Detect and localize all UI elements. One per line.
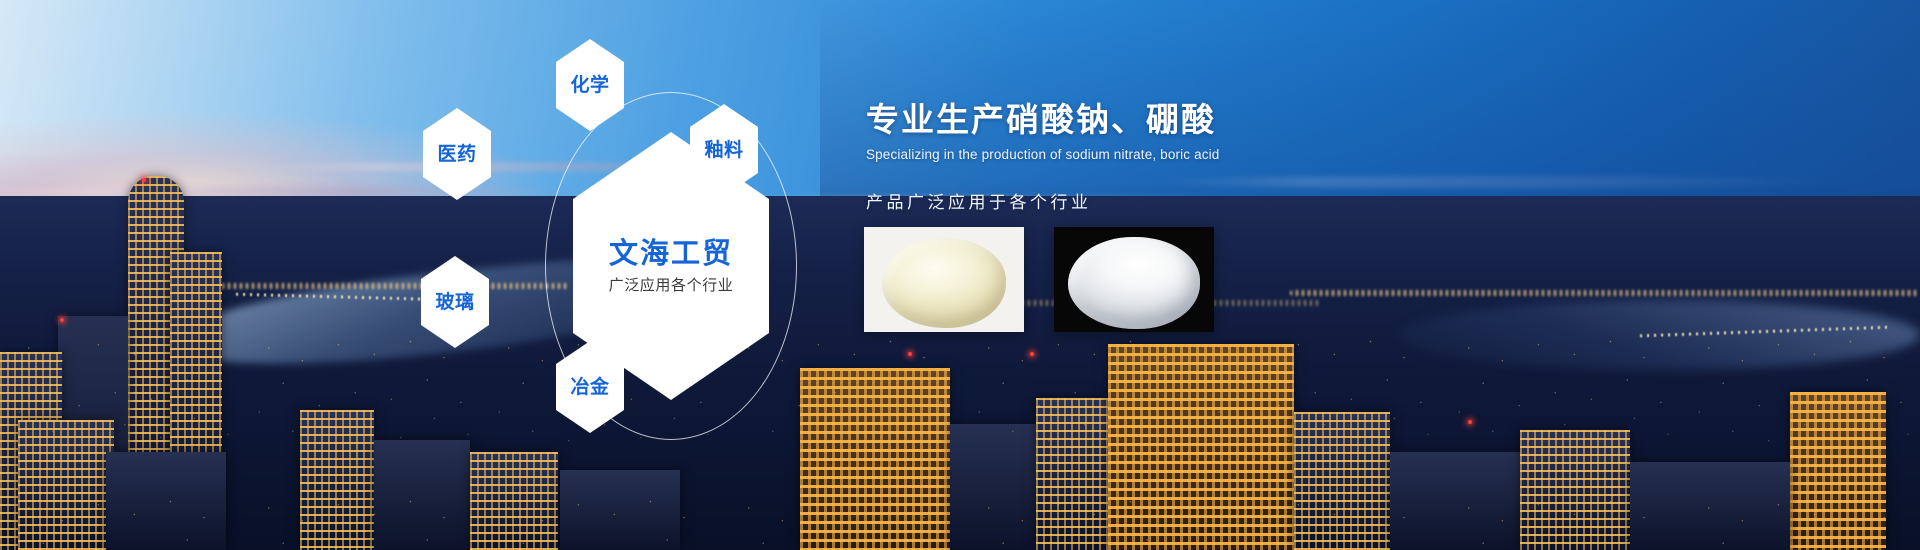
hex-node-label: 化学 xyxy=(570,76,609,95)
product-photo-group xyxy=(864,227,1214,332)
product-photo-sodium-nitrate[interactable] xyxy=(864,227,1024,332)
powder-pile xyxy=(1068,237,1200,329)
company-description: 广泛应用各个行业 xyxy=(609,276,734,294)
tower-beacon xyxy=(1468,420,1472,424)
company-name: 文海工贸 xyxy=(609,238,733,270)
subheadline-text: Specializing in the production of sodium… xyxy=(866,147,1566,162)
far-shore-lights xyxy=(1290,290,1920,296)
headline-block: 专业生产硝酸钠、硼酸 Specializing in the productio… xyxy=(866,100,1566,213)
tagline-text: 产品广泛应用于各个行业 xyxy=(866,188,1566,213)
hex-node-glass[interactable]: 玻璃 xyxy=(421,256,489,348)
hex-node-label: 冶金 xyxy=(570,378,609,397)
headline-text: 专业生产硝酸钠、硼酸 xyxy=(866,100,1566,140)
powder-grain-texture xyxy=(882,238,1006,328)
promo-banner: 化学 釉料 电子 冶金 玻璃 医药 文海工贸 广泛应用各个行业 专业生产硝酸钠、… xyxy=(0,0,1920,550)
powder-pile xyxy=(882,238,1006,328)
tower-beacon xyxy=(1030,352,1034,356)
powder-grain-texture xyxy=(1068,237,1200,329)
hex-node-label: 玻璃 xyxy=(435,293,474,312)
hex-node-medicine[interactable]: 医药 xyxy=(423,108,491,200)
product-photo-boric-acid[interactable] xyxy=(1054,227,1214,332)
hexagon-diagram: 化学 釉料 电子 冶金 玻璃 医药 文海工贸 广泛应用各个行业 xyxy=(0,0,960,550)
hex-node-label: 医药 xyxy=(437,145,476,164)
hex-node-label: 釉料 xyxy=(704,141,743,160)
